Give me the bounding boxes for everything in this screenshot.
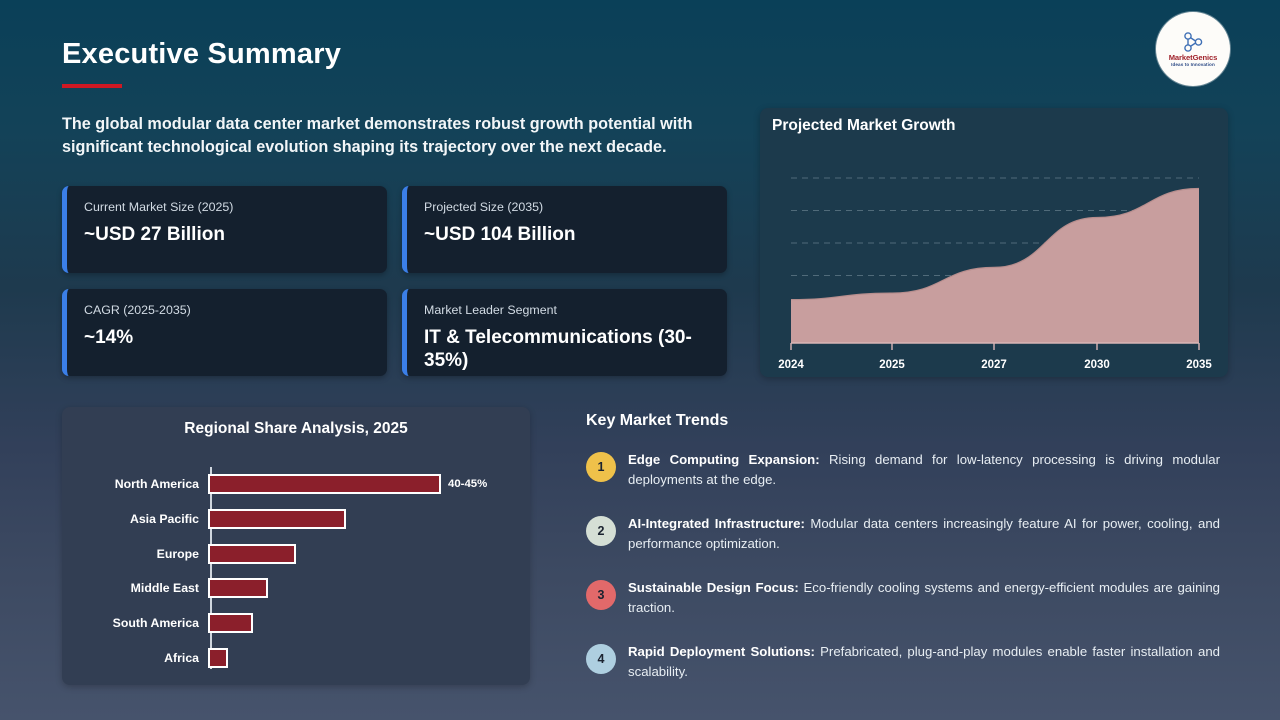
title-underline-rule [62, 84, 122, 88]
trend-item: 4Rapid Deployment Solutions: Prefabricat… [586, 642, 1220, 681]
chart-x-tick-label: 2024 [778, 359, 804, 371]
trend-term: Edge Computing Expansion: [628, 452, 820, 467]
bar-value-label: 40-45% [448, 478, 487, 490]
trends-heading: Key Market Trends [586, 412, 728, 430]
stat-card-label: CAGR (2025-2035) [84, 303, 371, 318]
trend-number-badge: 2 [586, 516, 616, 546]
trend-description: Sustainable Design Focus: Eco-friendly c… [628, 578, 1220, 617]
area-chart-svg [760, 108, 1228, 377]
chart-x-tick-label: 2035 [1186, 359, 1212, 371]
trend-description: AI-Integrated Infrastructure: Modular da… [628, 514, 1220, 553]
stat-card-value: ~USD 104 Billion [424, 224, 711, 247]
bar-row: Asia Pacific [62, 502, 530, 536]
stat-card-label: Projected Size (2035) [424, 200, 711, 215]
bar-category-label: Asia Pacific [62, 512, 208, 526]
trend-number-badge: 4 [586, 644, 616, 674]
bar-row: Africa [62, 641, 530, 675]
logo-tagline: Ideas to Innovation [1171, 63, 1215, 68]
stat-card-projected-size: Projected Size (2035) ~USD 104 Billion [402, 186, 727, 273]
trend-term: Sustainable Design Focus: [628, 580, 799, 595]
trend-item: 1Edge Computing Expansion: Rising demand… [586, 450, 1220, 489]
stat-card-value: ~USD 27 Billion [84, 224, 371, 247]
stat-card-value: IT & Telecommunications (30-35%) [424, 327, 711, 373]
trend-item: 2AI-Integrated Infrastructure: Modular d… [586, 514, 1220, 553]
bar-row: North America40-45% [62, 467, 530, 501]
bar-fill [208, 648, 228, 668]
bar-category-label: Middle East [62, 581, 208, 595]
bar-category-label: Africa [62, 651, 208, 665]
stat-card-label: Market Leader Segment [424, 303, 711, 318]
trend-description: Edge Computing Expansion: Rising demand … [628, 450, 1220, 489]
chart-x-tick-label: 2030 [1084, 359, 1110, 371]
regional-share-analysis-chart: Regional Share Analysis, 2025 North Amer… [62, 407, 530, 685]
intro-paragraph: The global modular data center market de… [62, 113, 722, 160]
trend-number-badge: 3 [586, 580, 616, 610]
trend-description: Rapid Deployment Solutions: Prefabricate… [628, 642, 1220, 681]
bar-category-label: Europe [62, 547, 208, 561]
page-title: Executive Summary [62, 38, 341, 71]
bar-category-label: South America [62, 616, 208, 630]
trend-number-badge: 1 [586, 452, 616, 482]
bar-fill [208, 613, 253, 633]
bar-fill [208, 474, 441, 494]
chart-title: Regional Share Analysis, 2025 [62, 420, 530, 438]
bar-row: Europe [62, 537, 530, 571]
area-series-fill [791, 189, 1199, 343]
projected-market-growth-chart: Projected Market Growth 2024202520272030… [760, 108, 1228, 377]
logo-badge: MarketGenics Ideas to Innovation [1156, 12, 1230, 86]
network-nodes-icon [1180, 31, 1206, 53]
trend-term: AI-Integrated Infrastructure: [628, 516, 805, 531]
bar-fill [208, 509, 346, 529]
stat-card-market-leader-segment: Market Leader Segment IT & Telecommunica… [402, 289, 727, 376]
stat-card-current-market-size: Current Market Size (2025) ~USD 27 Billi… [62, 186, 387, 273]
stat-card-cagr: CAGR (2025-2035) ~14% [62, 289, 387, 376]
chart-x-tick-label: 2027 [981, 359, 1007, 371]
bar-row: South America [62, 606, 530, 640]
trend-term: Rapid Deployment Solutions: [628, 644, 815, 659]
chart-x-tick-label: 2025 [879, 359, 905, 371]
bar-row: Middle East [62, 571, 530, 605]
bar-fill [208, 544, 296, 564]
trend-item: 3Sustainable Design Focus: Eco-friendly … [586, 578, 1220, 617]
stat-card-value: ~14% [84, 327, 371, 350]
bar-category-label: North America [62, 477, 208, 491]
logo-name: MarketGenics [1169, 54, 1218, 62]
stat-card-label: Current Market Size (2025) [84, 200, 371, 215]
chart-x-ticks [791, 343, 1199, 350]
bar-fill [208, 578, 268, 598]
